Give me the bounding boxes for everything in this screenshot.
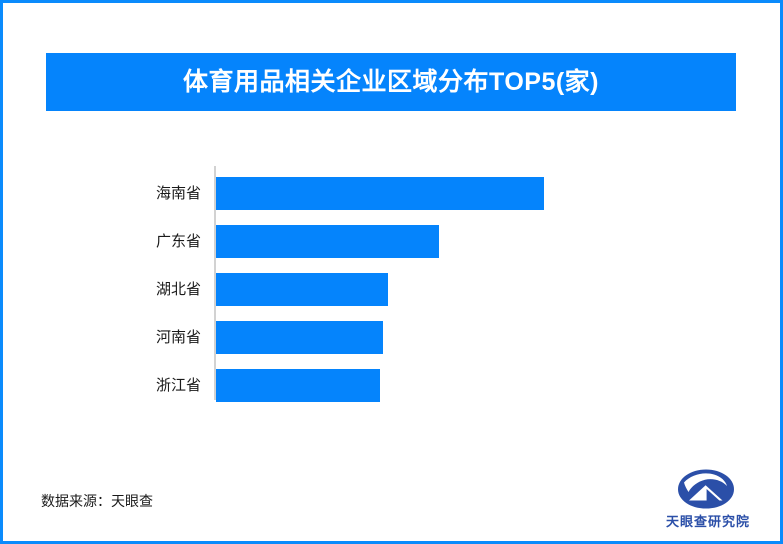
page-title: 体育用品相关企业区域分布TOP5(家) — [183, 70, 599, 95]
logo-name: 天眼查研究院 — [658, 511, 758, 530]
brand-logo: 天眼查研究院 — [658, 469, 758, 531]
title-banner: 体育用品相关企业区域分布TOP5(家) — [46, 53, 736, 111]
bar-category-label: 浙江省 — [103, 369, 201, 402]
bar-row: 海南省 — [3, 177, 783, 210]
bar-row: 湖北省 — [3, 273, 783, 306]
bar-row: 浙江省 — [3, 369, 783, 402]
bar-value-海南省 — [216, 177, 544, 210]
bar-value-河南省 — [216, 321, 383, 354]
bar-value-浙江省 — [216, 369, 380, 402]
bar-value-广东省 — [216, 225, 439, 258]
bar-chart: 海南省 广东省 湖北省 河南省 浙江省 — [3, 153, 783, 413]
bar-category-label: 湖北省 — [103, 273, 201, 306]
tianyancha-arch-eye-icon — [677, 469, 735, 509]
bar-category-label: 广东省 — [103, 225, 201, 258]
source-note: 数据来源：天眼查 — [41, 491, 153, 511]
infographic-canvas: 体育用品相关企业区域分布TOP5(家) 海南省 广东省 湖北省 河南省 浙江省 … — [0, 0, 783, 544]
bar-category-label: 河南省 — [103, 321, 201, 354]
bar-row: 广东省 — [3, 225, 783, 258]
bar-row: 河南省 — [3, 321, 783, 354]
bar-value-湖北省 — [216, 273, 388, 306]
bar-category-label: 海南省 — [103, 177, 201, 210]
